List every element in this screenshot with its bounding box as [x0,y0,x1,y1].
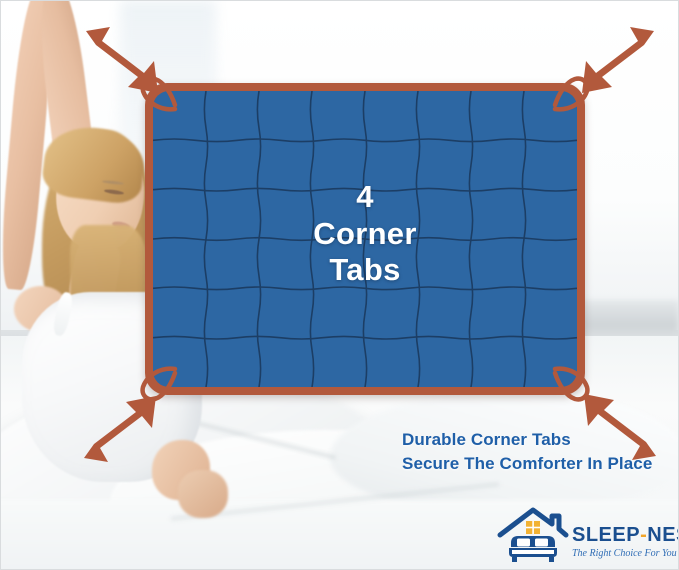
headline-line-1: 4 [145,179,585,216]
caption-line-2: Secure The Comforter In Place [402,452,652,476]
brand-part-2: NEST [647,524,679,546]
brand-tagline: The Right Choice For You [572,547,679,560]
leg [178,470,228,518]
comforter: 4 Corner Tabs [145,83,585,395]
house-with-bed-icon [496,505,570,565]
brand-part-1: SLEEP [572,524,640,546]
caption-text: Durable Corner Tabs Secure The Comforter… [402,428,652,476]
arrow-top-right [578,25,656,97]
logo-wordmark: SLEEP-NEST The Right Choice For You [572,511,679,560]
caption-line-1: Durable Corner Tabs [402,428,652,452]
brand-name: SLEEP-NEST [572,525,679,545]
comforter-headline: 4 Corner Tabs [145,179,585,289]
headline-line-2: Corner [145,216,585,253]
arrow-bottom-left [82,392,160,464]
headline-line-3: Tabs [145,252,585,289]
product-image: 4 Corner Tabs Durable [0,0,679,570]
arrow-top-left [84,25,162,97]
brand-logo: SLEEP-NEST The Right Choice For You [496,504,676,566]
